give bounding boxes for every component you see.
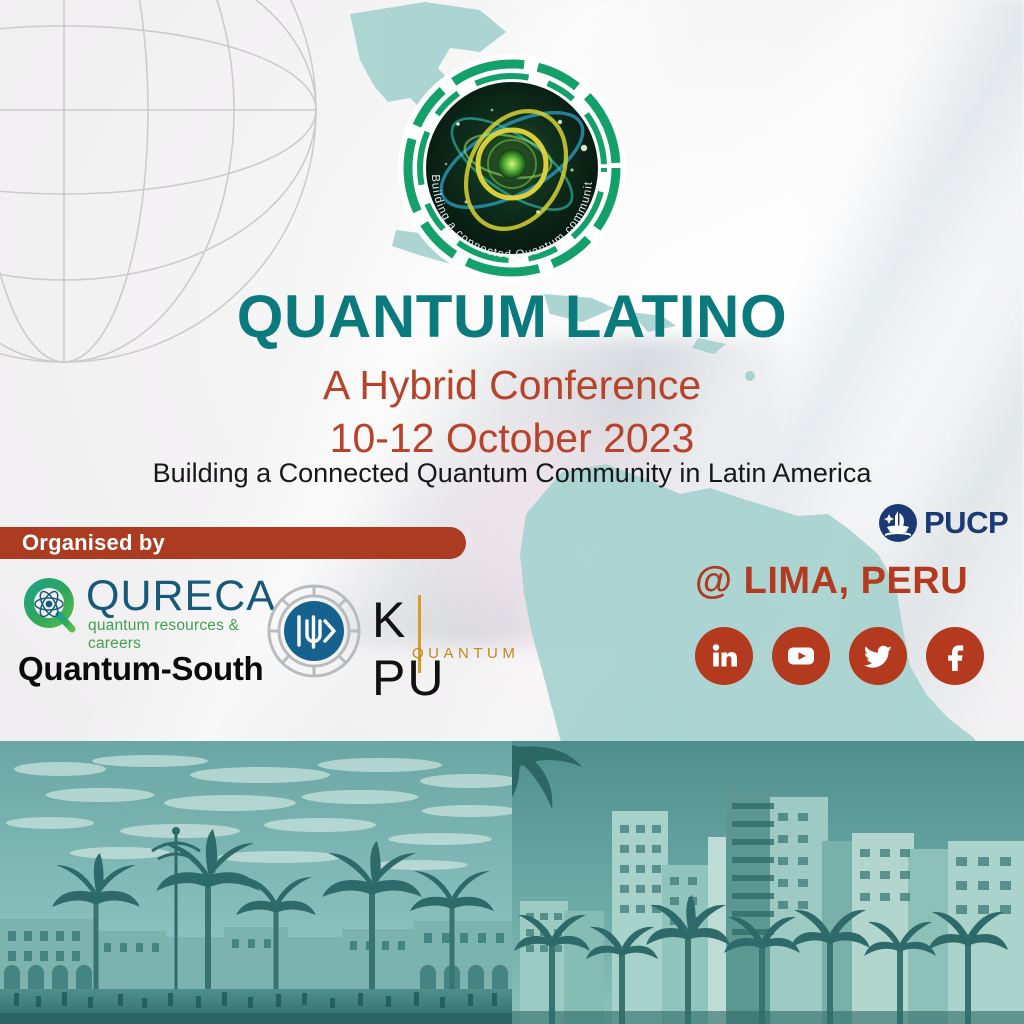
- pucp-ship-icon: [878, 503, 918, 543]
- logo-qureca[interactable]: QURECA quantum resources & careers: [18, 573, 273, 635]
- kipu-ket-icon: [266, 583, 362, 679]
- organised-by-label: Organised by: [0, 530, 165, 556]
- kipu-sub-label: QUANTUM: [412, 645, 519, 662]
- page-title: QUANTUM LATINO: [0, 282, 1024, 351]
- event-dates: 10-12 October 2023: [0, 415, 1024, 462]
- youtube-icon[interactable]: [772, 627, 830, 685]
- qureca-tagline: quantum resources & careers: [88, 617, 273, 653]
- qureca-mark-icon: [18, 575, 80, 633]
- facebook-icon[interactable]: [926, 627, 984, 685]
- poster-root: Building a connected Quantum community Q…: [0, 0, 1024, 1024]
- photo-band: [0, 741, 1024, 1024]
- twitter-icon[interactable]: [849, 627, 907, 685]
- logo-kipu-quantum[interactable]: K PU QUANTUM: [266, 583, 482, 679]
- organised-by-banner: Organised by: [0, 527, 466, 559]
- linkedin-icon[interactable]: [695, 627, 753, 685]
- event-location: @ LIMA, PERU: [695, 560, 995, 603]
- quantum-latino-logo: Building a connected Quantum community: [396, 52, 628, 284]
- logo-quantum-south[interactable]: Quantum-South: [18, 650, 263, 688]
- qureca-wordmark: QURECA: [86, 572, 276, 621]
- lima-plaza-mayor-photo: [0, 741, 512, 1024]
- event-tagline: Building a Connected Quantum Community i…: [0, 458, 1024, 489]
- event-subtitle: A Hybrid Conference: [0, 362, 1024, 409]
- logo-pucp[interactable]: PUCP: [878, 503, 1010, 543]
- social-links: [695, 627, 984, 685]
- pucp-wordmark: PUCP: [924, 505, 1008, 541]
- lima-miraflores-skyline-photo: [512, 741, 1024, 1024]
